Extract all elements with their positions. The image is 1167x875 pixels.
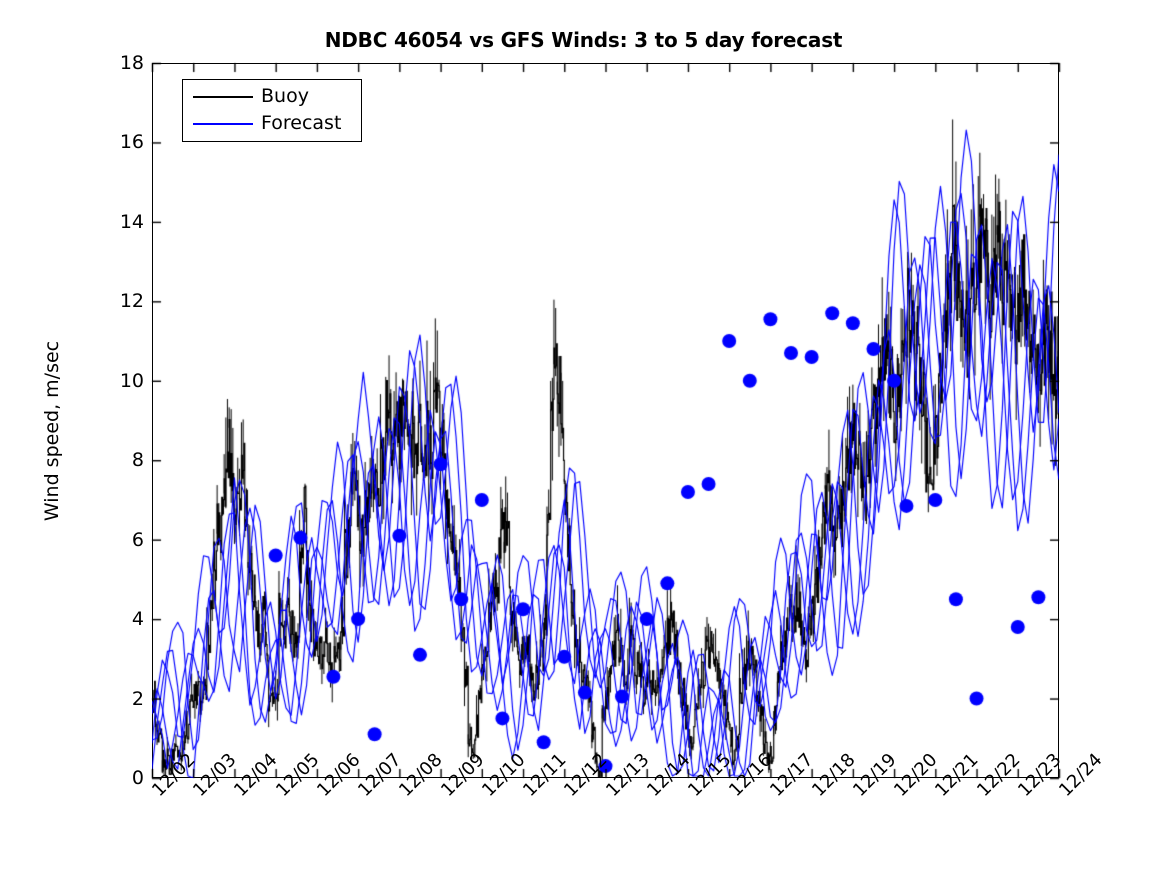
axis-ticks: [0, 0, 1167, 875]
chart-page: NDBC 46054 vs GFS Winds: 3 to 5 day fore…: [0, 0, 1167, 875]
